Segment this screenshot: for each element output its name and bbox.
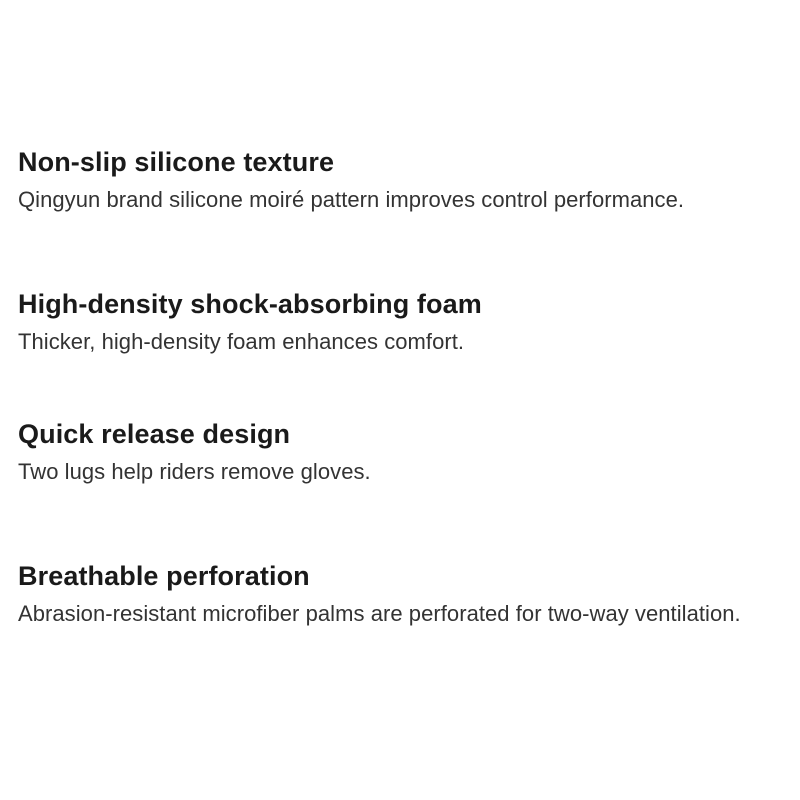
- feature-title: Quick release design: [18, 417, 785, 451]
- feature-item-non-slip-silicone-texture: Non-slip silicone texture Qingyun brand …: [18, 145, 785, 215]
- feature-description: Abrasion-resistant microfiber palms are …: [18, 599, 773, 629]
- feature-item-breathable-perforation: Breathable perforation Abrasion-resistan…: [18, 559, 785, 629]
- feature-title: Non-slip silicone texture: [18, 145, 785, 179]
- feature-title: High-density shock-absorbing foam: [18, 287, 785, 321]
- feature-description: Qingyun brand silicone moiré pattern imp…: [18, 185, 773, 215]
- feature-item-quick-release-design: Quick release design Two lugs help rider…: [18, 417, 785, 487]
- product-feature-list: Non-slip silicone texture Qingyun brand …: [0, 0, 800, 800]
- feature-description: Two lugs help riders remove gloves.: [18, 457, 773, 487]
- feature-item-high-density-shock-absorbing-foam: High-density shock-absorbing foam Thicke…: [18, 287, 785, 357]
- feature-description: Thicker, high-density foam enhances comf…: [18, 327, 773, 357]
- feature-title: Breathable perforation: [18, 559, 785, 593]
